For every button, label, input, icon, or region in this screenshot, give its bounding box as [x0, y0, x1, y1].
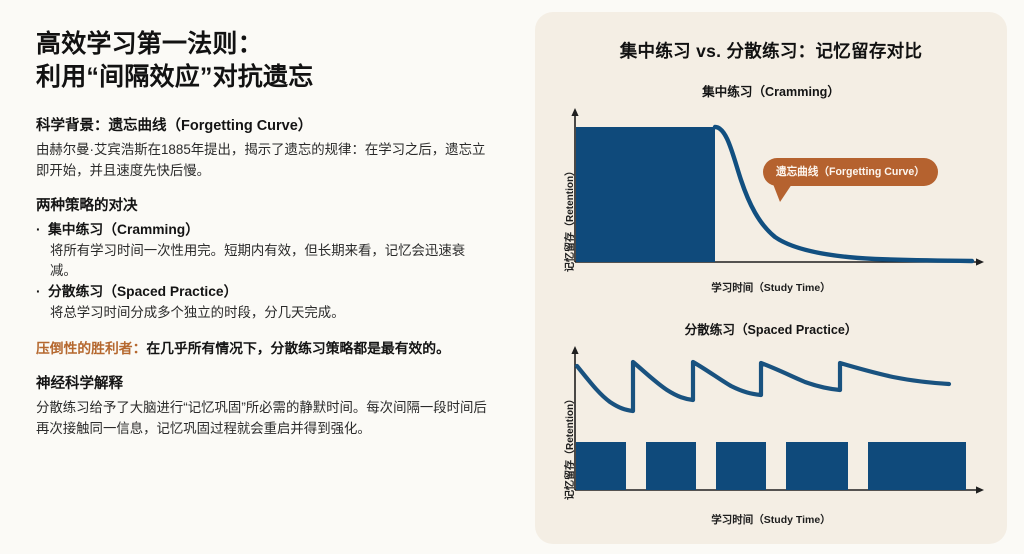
forgetting-curve-callout: 遗忘曲线（Forgetting Curve）	[763, 158, 938, 186]
y-axis-arrow-icon	[571, 346, 578, 354]
winner-rest: 在几乎所有情况下，分散练习策略都是最有效的。	[146, 341, 450, 356]
bullet-dot-icon: ·	[36, 282, 48, 303]
winner-lead: 压倒性的胜利者：	[36, 341, 146, 356]
strategy-title-text: 分散练习（Spaced Practice）	[48, 284, 237, 299]
chart-cramming-svg	[535, 100, 1007, 282]
section-neuroscience-body: 分散练习给予了大脑进行“记忆巩固”所必需的静默时间。每次间隔一段时间后再次接触同…	[36, 398, 490, 440]
chart-cramming-title: 集中练习（Cramming）	[535, 81, 1007, 100]
page-title: 高效学习第一法则： 利用“间隔效应”对抗遗忘	[36, 28, 490, 94]
section-strategies-heading: 两种策略的对决	[36, 196, 490, 218]
strategy-title: ·集中练习（Cramming）	[36, 220, 490, 241]
page-title-line-1: 高效学习第一法则：	[36, 28, 490, 61]
x-axis-arrow-icon	[976, 258, 984, 265]
chart-panel-title: 集中练习 vs. 分散练习：记忆留存对比	[535, 38, 1007, 63]
strategy-title: ·分散练习（Spaced Practice）	[36, 282, 490, 303]
spaced-retention-curve-line	[577, 362, 949, 411]
list-item: ·分散练习（Spaced Practice） 将总学习时间分成多个独立的时段，分…	[36, 282, 490, 323]
y-axis-arrow-icon	[571, 108, 578, 116]
section-background-heading: 科学背景：遗忘曲线（Forgetting Curve）	[36, 116, 490, 138]
study-block	[576, 127, 715, 262]
section-background-body: 由赫尔曼·艾宾浩斯在1885年提出，揭示了遗忘的规律：在学习之后，遗忘立即开始，…	[36, 140, 490, 182]
forgetting-curve-callout-tail	[773, 184, 792, 202]
chart-spaced: 分散练习（Spaced Practice） 记忆留存（Retention）	[535, 319, 1007, 510]
list-item: ·集中练习（Cramming） 将所有学习时间一次性用完。短期内有效，但长期来看…	[36, 220, 490, 281]
bullet-dot-icon: ·	[36, 220, 48, 241]
page-title-line-2: 利用“间隔效应”对抗遗忘	[36, 61, 490, 94]
section-background: 科学背景：遗忘曲线（Forgetting Curve） 由赫尔曼·艾宾浩斯在18…	[36, 116, 490, 181]
section-neuroscience: 神经科学解释 分散练习给予了大脑进行“记忆巩固”所必需的静默时间。每次间隔一段时…	[36, 374, 490, 439]
section-neuroscience-heading: 神经科学解释	[36, 374, 490, 396]
winner-paragraph: 压倒性的胜利者：在几乎所有情况下，分散练习策略都是最有效的。	[36, 338, 490, 359]
strategy-desc: 将所有学习时间一次性用完。短期内有效，但长期来看，记忆会迅速衰减。	[36, 241, 490, 281]
chart-cramming-ylabel: 记忆留存（Retention）	[561, 166, 576, 272]
x-axis-arrow-icon	[976, 486, 984, 493]
chart-spaced-title: 分散练习（Spaced Practice）	[535, 319, 1007, 338]
section-strategies: 两种策略的对决 ·集中练习（Cramming） 将所有学习时间一次性用完。短期内…	[36, 196, 490, 322]
chart-spaced-xlabel: 学习时间（Study Time）	[535, 512, 1007, 527]
study-block	[868, 442, 966, 490]
chart-spaced-svg	[535, 338, 1007, 510]
study-block	[786, 442, 848, 490]
section-winner: 压倒性的胜利者：在几乎所有情况下，分散练习策略都是最有效的。	[36, 338, 490, 359]
chart-cramming: 集中练习（Cramming） 记忆留存（Retention） 遗忘曲线（Forg…	[535, 81, 1007, 295]
study-block	[646, 442, 696, 490]
forgetting-curve-line	[715, 127, 972, 261]
strategy-desc: 将总学习时间分成多个独立的时段，分几天完成。	[36, 303, 490, 323]
strategy-title-text: 集中练习（Cramming）	[48, 222, 199, 237]
chart-spaced-ylabel: 记忆留存（Retention）	[561, 394, 576, 500]
study-block	[716, 442, 766, 490]
article-column: 高效学习第一法则： 利用“间隔效应”对抗遗忘 科学背景：遗忘曲线（Forgett…	[0, 0, 520, 554]
chart-panel: 集中练习 vs. 分散练习：记忆留存对比 集中练习（Cramming） 记忆留存…	[535, 12, 1007, 544]
strategy-list: ·集中练习（Cramming） 将所有学习时间一次性用完。短期内有效，但长期来看…	[36, 220, 490, 323]
chart-cramming-xlabel: 学习时间（Study Time）	[535, 280, 1007, 295]
study-block	[576, 442, 626, 490]
